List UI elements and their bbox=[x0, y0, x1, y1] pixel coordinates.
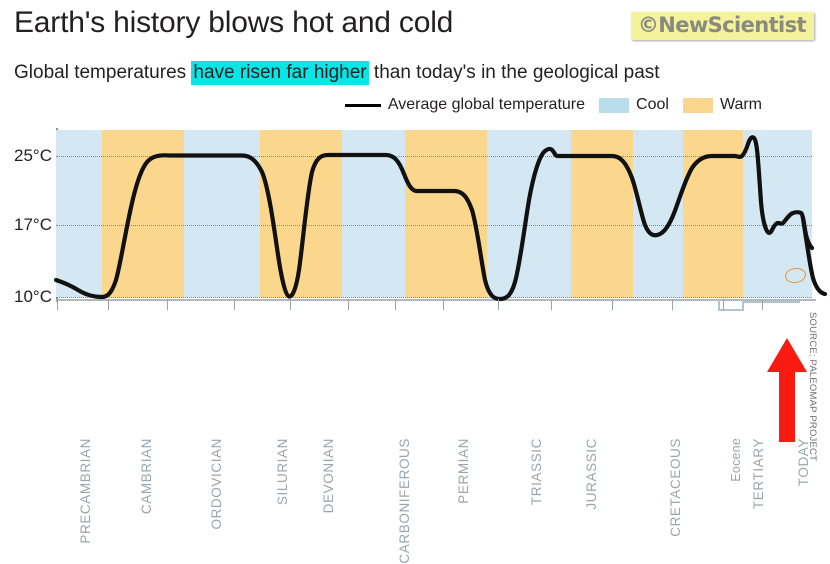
x-axis-tick bbox=[551, 299, 552, 310]
x-axis-labels: PRECAMBRIANCAMBRIANORDOVICIANSILURIANDEV… bbox=[0, 310, 830, 449]
x-axis-label-cretaceous: CRETACEOUS bbox=[668, 438, 683, 537]
legend-item-warm: Warm bbox=[683, 96, 762, 114]
x-axis-tick bbox=[348, 299, 349, 310]
legend-label-cool: Cool bbox=[636, 96, 669, 114]
subtitle-text-after: than today's in the geological past bbox=[369, 62, 660, 83]
x-axis-tick bbox=[108, 299, 109, 310]
page-title: Earth's history blows hot and cold bbox=[14, 6, 453, 40]
y-tick-label-25: 25°C bbox=[14, 146, 52, 166]
x-axis-label-ordovician: ORDOVICIAN bbox=[209, 438, 224, 530]
x-axis-tick bbox=[762, 299, 763, 310]
x-axis-tick bbox=[57, 299, 58, 310]
infographic-page: Earth's history blows hot and cold ©NewS… bbox=[0, 0, 830, 449]
x-axis-label-precambrian: PRECAMBRIAN bbox=[78, 438, 93, 544]
x-axis-tick bbox=[234, 299, 235, 310]
y-tick-label-17: 17°C bbox=[14, 215, 52, 235]
x-axis-label-cambrian: CAMBRIAN bbox=[139, 438, 154, 514]
newscientist-logo: ©NewScientist bbox=[631, 12, 814, 40]
warm-swatch-icon bbox=[683, 98, 713, 113]
page-subtitle: Global temperatures have risen far highe… bbox=[14, 62, 660, 84]
x-axis-label-devonian: DEVONIAN bbox=[321, 438, 336, 513]
legend-label-warm: Warm bbox=[720, 96, 762, 114]
x-axis-label-permian: PERMIAN bbox=[456, 438, 471, 504]
legend-label-line: Average global temperature bbox=[388, 96, 585, 114]
legend-item-line: Average global temperature bbox=[345, 96, 585, 114]
x-axis-label-eocene: Eocene bbox=[729, 438, 743, 482]
source-credit: SOURCE: PALEOMAP PROJECT bbox=[807, 312, 818, 461]
x-axis-tick bbox=[612, 299, 613, 310]
cool-swatch-icon bbox=[599, 98, 629, 113]
x-axis-tick bbox=[395, 299, 396, 310]
plot-area bbox=[56, 130, 812, 298]
x-axis-tick bbox=[723, 299, 724, 310]
x-axis-tick bbox=[443, 299, 444, 310]
x-axis-label-silurian: SILURIAN bbox=[275, 438, 290, 505]
x-axis-label-triassic: TRIASSIC bbox=[529, 438, 544, 505]
x-axis-label-carboniferous: CARBONIFEROUS bbox=[397, 438, 412, 564]
subtitle-highlight: have risen far higher bbox=[191, 61, 368, 85]
chart-legend: Average global temperature Cool Warm bbox=[345, 96, 762, 114]
x-axis-tick bbox=[672, 299, 673, 310]
x-axis-tick bbox=[290, 299, 291, 310]
temperature-curve bbox=[56, 130, 812, 298]
today-red-arrow-icon bbox=[767, 338, 807, 442]
legend-item-cool: Cool bbox=[599, 96, 669, 114]
x-axis-tick bbox=[498, 299, 499, 310]
line-swatch-icon bbox=[345, 104, 381, 107]
x-axis-tick bbox=[167, 299, 168, 310]
